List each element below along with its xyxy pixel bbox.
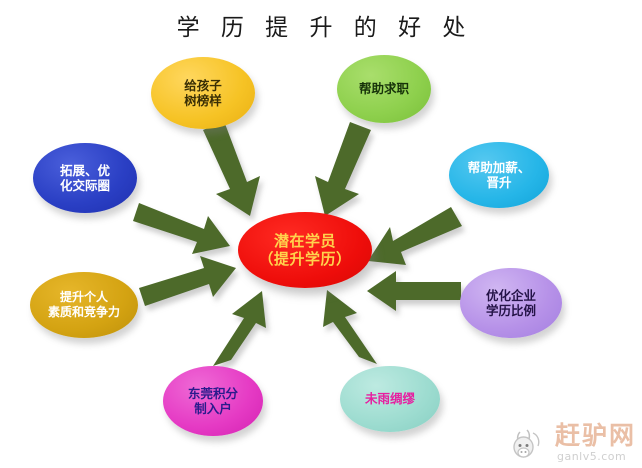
node-line2: 素质和竞争力 [44, 305, 124, 320]
node-line2: 树榜样 [180, 93, 226, 108]
arrow-quality-to-center [139, 256, 236, 306]
arrow-network-to-center [133, 203, 230, 254]
node-line1: 未雨绸缪 [361, 391, 419, 406]
arrow-raise-to-center [368, 207, 462, 265]
node-help-job-seeking[interactable]: 帮助求职 [337, 55, 431, 123]
center-node-line1: 潜在学员 [254, 232, 355, 250]
donkey-mascot-icon [511, 426, 549, 460]
watermark-url: ganlv5.com [557, 451, 626, 462]
node-line1: 拓展、优 [56, 163, 114, 178]
node-line1: 提升个人 [44, 290, 124, 305]
node-expand-social-circle[interactable]: 拓展、优 化交际圈 [33, 143, 137, 213]
node-line1: 优化企业 [482, 288, 540, 303]
node-line2: 晋升 [464, 175, 535, 190]
node-prepare-in-advance[interactable]: 未雨绸缪 [340, 366, 440, 432]
node-improve-personal-quality[interactable]: 提升个人 素质和竞争力 [30, 272, 138, 338]
node-line1: 东莞积分 [184, 386, 242, 401]
node-set-example-for-children[interactable]: 给孩子 树榜样 [151, 57, 255, 129]
node-line2: 制入户 [184, 401, 242, 416]
node-line2: 化交际圈 [56, 178, 114, 193]
node-line1: 给孩子 [180, 78, 226, 93]
node-line1: 帮助加薪、 [464, 160, 535, 175]
arrow-children-to-center [203, 121, 260, 216]
arrow-ratio-to-center [367, 271, 461, 311]
node-line2: 学历比例 [482, 303, 540, 318]
center-node-potential-student[interactable]: 潜在学员 （提升学历） [238, 212, 372, 288]
arrow-rainyday-to-center [323, 290, 377, 364]
node-line1: 帮助求职 [355, 81, 413, 96]
arrow-hukou-to-center [213, 291, 266, 366]
node-help-raise-promotion[interactable]: 帮助加薪、 晋升 [449, 142, 549, 208]
center-node-line2: （提升学历） [254, 250, 355, 268]
watermark: 赶驴网 ganlv5.com [511, 423, 636, 462]
node-optimize-enterprise-education-ratio[interactable]: 优化企业 学历比例 [460, 268, 562, 338]
node-dongguan-points-hukou[interactable]: 东莞积分 制入户 [163, 366, 263, 436]
watermark-brand-name: 赶驴网 [555, 423, 636, 448]
arrow-job-to-center [315, 122, 371, 216]
